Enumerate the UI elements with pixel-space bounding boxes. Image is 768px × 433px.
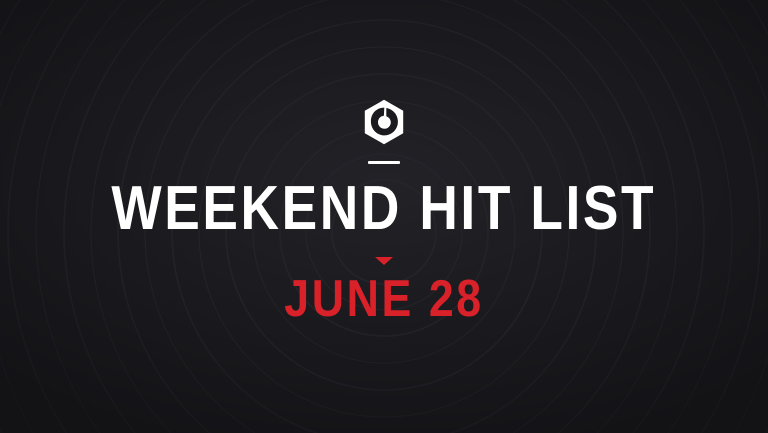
- date-label: JUNE 28: [284, 273, 484, 325]
- beats-hexagon-logo: [362, 99, 406, 145]
- page-title: WEEKEND HIT LIST: [112, 178, 657, 240]
- divider-rule: [368, 161, 400, 164]
- caret-down-icon: [375, 257, 393, 265]
- poster-content: WEEKEND HIT LIST JUNE 28: [0, 0, 768, 433]
- poster-canvas: WEEKEND HIT LIST JUNE 28: [0, 0, 768, 433]
